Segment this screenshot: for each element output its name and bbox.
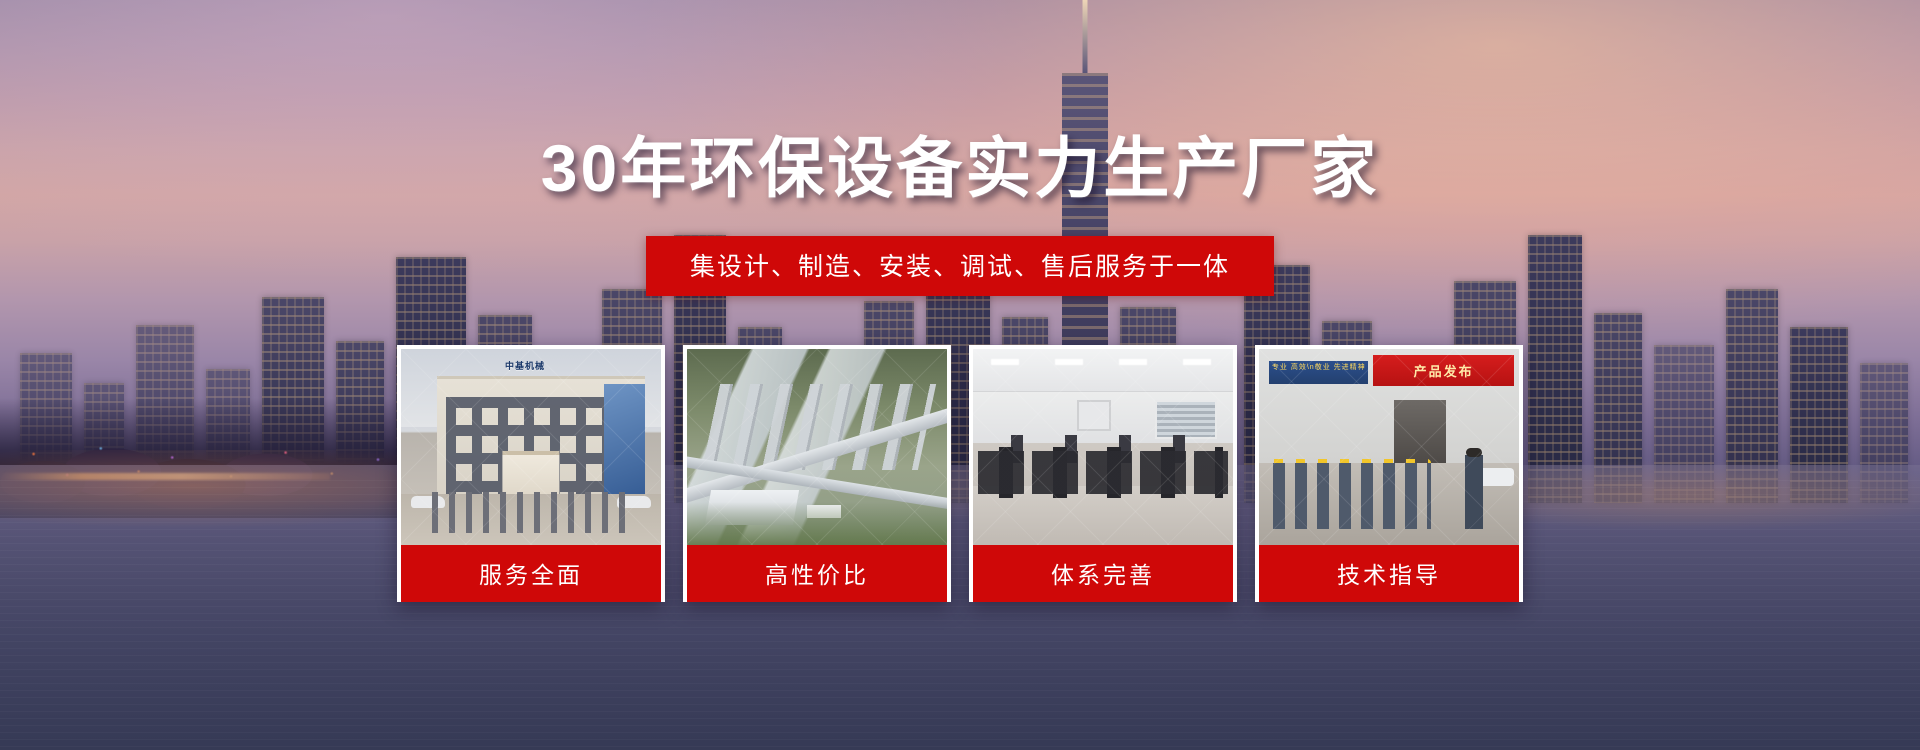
workshop-slogan-text: 专业 高效\n敬业 先进精神 (1269, 361, 1368, 374)
aerial-factory-plant-photo (687, 349, 947, 545)
office-interior-meeting-photo (973, 349, 1233, 545)
office-building-staff-photo: 中基机械 (401, 349, 661, 545)
feature-card[interactable]: 专业 高效\n敬业 先进精神 产品发布 技术指导 (1255, 345, 1523, 602)
banner-headline: 30年环保设备实力生产厂家 (0, 115, 1920, 211)
feature-card-list: 中基机械 服务全面 (0, 345, 1920, 602)
workshop-workers-photo: 专业 高效\n敬业 先进精神 产品发布 (1259, 349, 1519, 545)
banner-subtitle-badge: 集设计、制造、安装、调试、售后服务于一体 (646, 236, 1274, 296)
hero-banner: 30年环保设备实力生产厂家 集设计、制造、安装、调试、售后服务于一体 中基机械 (0, 0, 1920, 750)
feature-card[interactable]: 高性价比 (683, 345, 951, 602)
feature-card[interactable]: 体系完善 (969, 345, 1237, 602)
feature-card-label: 高性价比 (687, 545, 947, 602)
subtitle-container: 集设计、制造、安装、调试、售后服务于一体 (0, 236, 1920, 296)
feature-card[interactable]: 中基机械 服务全面 (397, 345, 665, 602)
feature-card-label: 技术指导 (1259, 545, 1519, 602)
feature-card-label: 服务全面 (401, 545, 661, 602)
building-sign-text: 中基机械 (505, 359, 545, 372)
workshop-red-sign-text: 产品发布 (1373, 355, 1513, 386)
banner-content: 30年环保设备实力生产厂家 集设计、制造、安装、调试、售后服务于一体 中基机械 (0, 0, 1920, 750)
feature-card-label: 体系完善 (973, 545, 1233, 602)
